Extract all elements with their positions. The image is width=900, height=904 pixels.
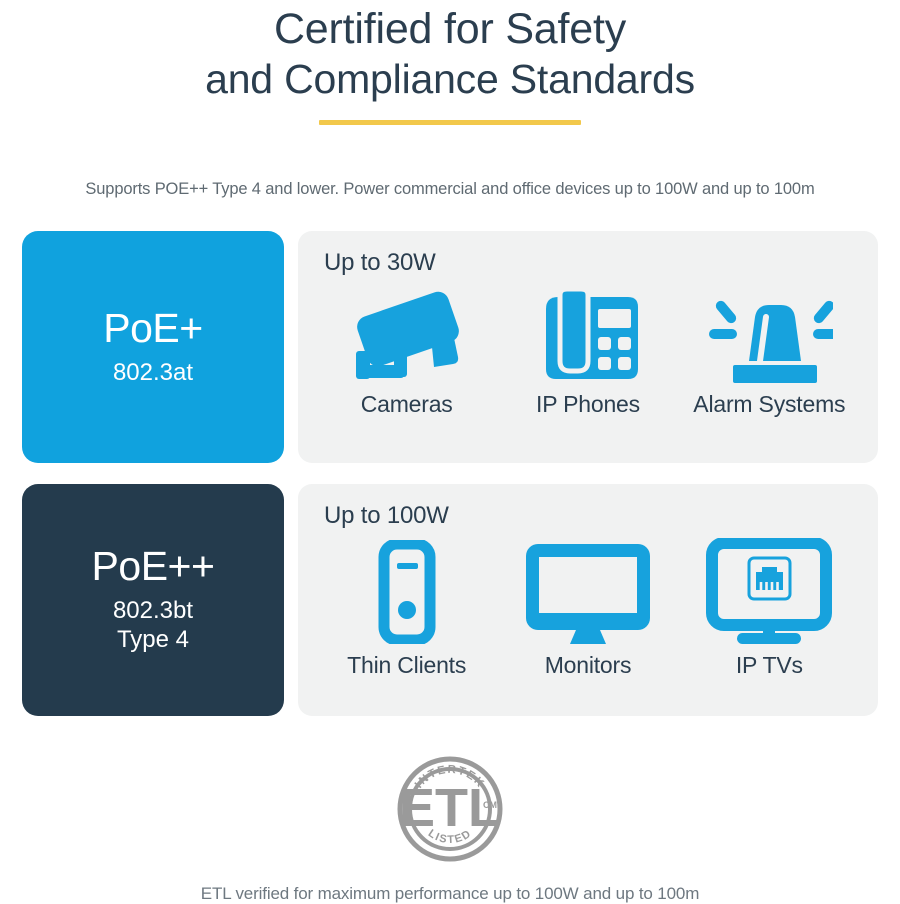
page-subtitle: Supports POE++ Type 4 and lower. Power c… — [0, 180, 900, 199]
poe-plus-plus-panel-title: Up to 100W — [324, 502, 860, 530]
poe-plus-plus-badge: PoE++ 802.3bt Type 4 — [22, 484, 284, 716]
device-item-alarm-systems: Alarm Systems — [680, 283, 860, 418]
poe-plus-row: PoE+ 802.3at Up to 30W — [22, 231, 878, 463]
monitor-icon — [522, 536, 654, 644]
page-title-line-1: Certified for Safety — [0, 4, 900, 55]
poe-plus-badge: PoE+ 802.3at — [22, 231, 284, 463]
footer-caption: ETL verified for maximum performance up … — [0, 884, 900, 904]
etl-logo-superscript: CM — [483, 800, 497, 810]
device-label-ip-tvs: IP TVs — [736, 652, 803, 679]
device-label-monitors: Monitors — [545, 652, 632, 679]
device-label-alarm-systems: Alarm Systems — [693, 391, 845, 418]
poe-plus-badge-title: PoE+ — [103, 307, 202, 350]
poe-plus-badge-subtitle: 802.3at — [113, 359, 193, 388]
poe-plus-plus-badge-subtitle: 802.3bt Type 4 — [113, 597, 193, 655]
alarm-siren-icon — [705, 283, 833, 383]
device-label-ip-phones: IP Phones — [536, 391, 640, 418]
poe-plus-plus-device-list: Thin Clients Monitors — [316, 536, 860, 679]
device-item-monitors: Monitors — [498, 536, 678, 679]
poe-plus-device-list: Cameras IP Phones — [316, 283, 860, 418]
page-title-line-2: and Compliance Standards — [0, 55, 900, 103]
ip-phone-icon — [536, 283, 640, 383]
poe-plus-plus-panel: Up to 100W Thin Clients — [298, 484, 878, 716]
page-header: Certified for Safety and Compliance Stan… — [0, 0, 900, 199]
ip-tv-icon — [705, 536, 833, 644]
page-footer: INTERTEK LISTED ETL CM ETL verified for … — [0, 750, 900, 904]
device-item-ip-tvs: IP TVs — [680, 536, 860, 679]
device-item-cameras: Cameras — [317, 283, 497, 418]
thin-client-icon — [376, 536, 438, 644]
poe-plus-panel: Up to 30W — [298, 231, 878, 463]
device-label-thin-clients: Thin Clients — [347, 652, 466, 679]
etl-listed-intertek-logo: INTERTEK LISTED ETL CM — [391, 750, 509, 868]
poe-rows: PoE+ 802.3at Up to 30W — [0, 231, 900, 716]
security-camera-icon — [348, 283, 466, 383]
poe-plus-plus-row: PoE++ 802.3bt Type 4 Up to 100W Thin Cli… — [22, 484, 878, 716]
poe-plus-panel-title: Up to 30W — [324, 249, 860, 277]
title-accent-bar — [319, 120, 581, 125]
device-item-ip-phones: IP Phones — [498, 283, 678, 418]
device-label-cameras: Cameras — [361, 391, 453, 418]
poe-plus-plus-badge-title: PoE++ — [92, 545, 215, 588]
device-item-thin-clients: Thin Clients — [317, 536, 497, 679]
